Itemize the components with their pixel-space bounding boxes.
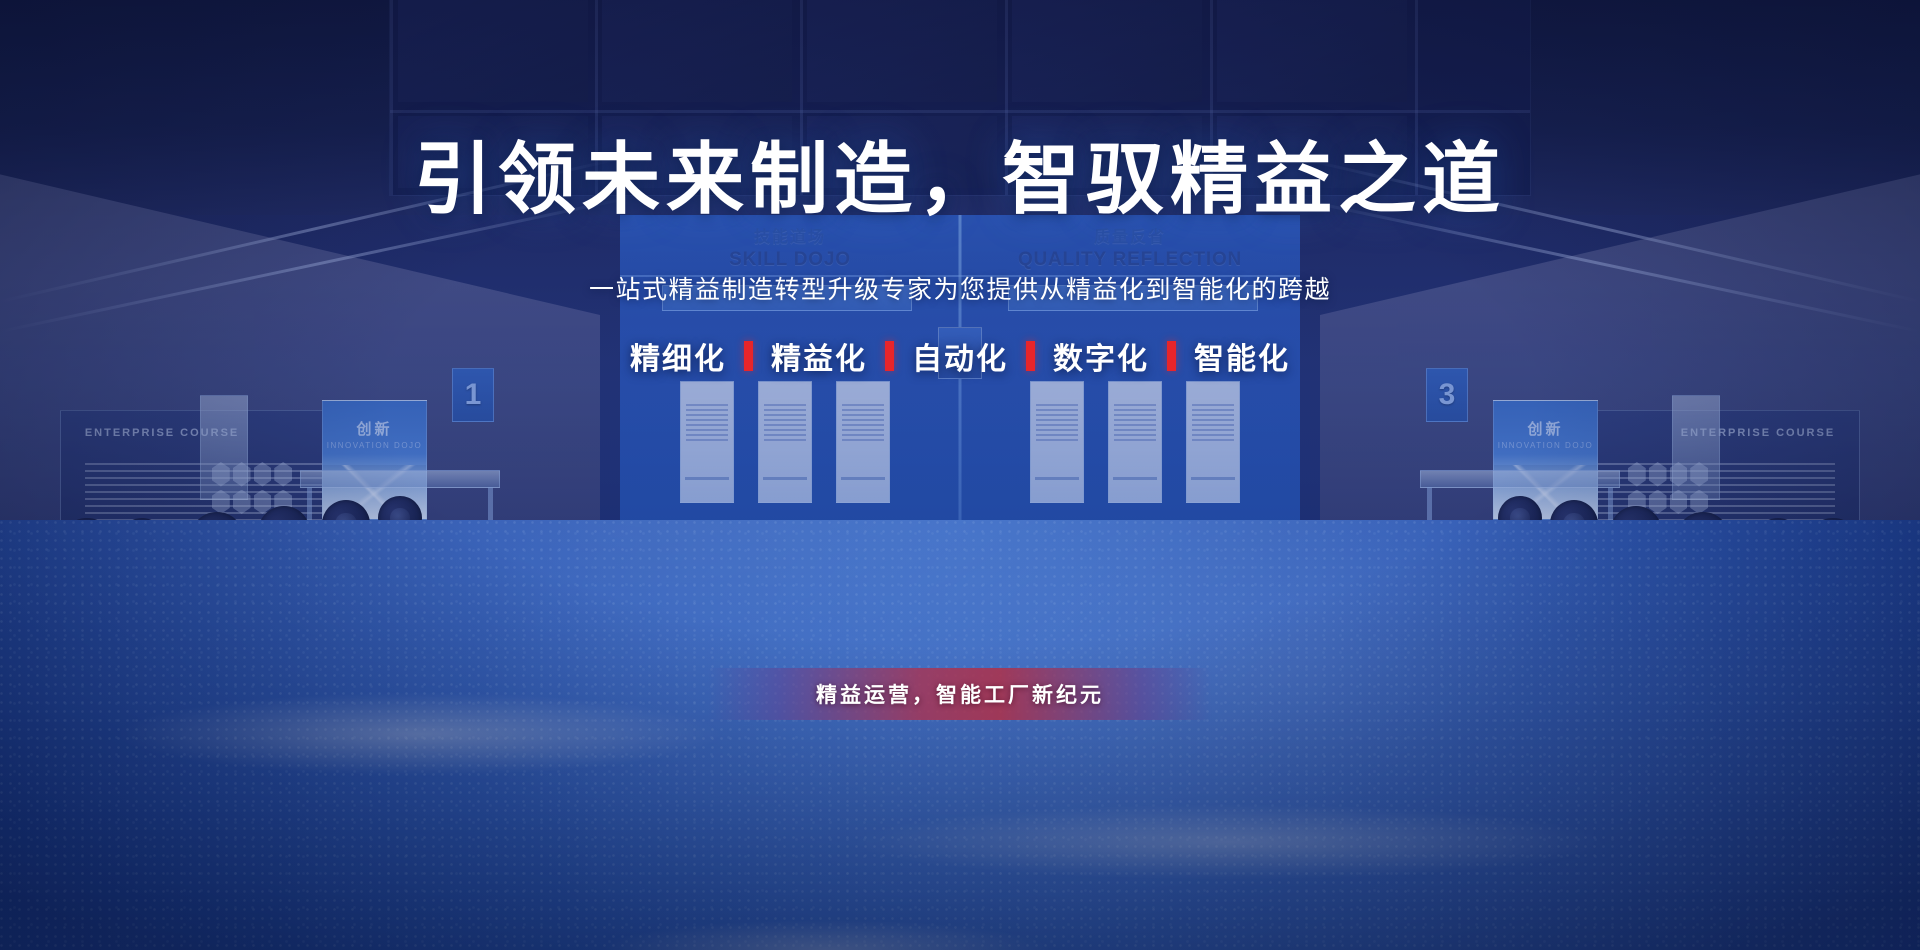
keyword-item-3: 自动化 xyxy=(912,334,1008,378)
keyword-item-4: 数字化 xyxy=(1053,334,1149,378)
hero-subheadline: 一站式精益制造转型升级专家为您提供从精益化到智能化的跨越 xyxy=(589,270,1331,306)
hero-banner: ENTERPRISE COURSE 创新 INNOVATION DOJO ENT… xyxy=(0,0,1920,950)
hero-headline: 引领未来制造，智驭精益之道 xyxy=(414,140,1506,218)
keyword-separator-icon xyxy=(1167,341,1176,371)
keyword-separator-icon xyxy=(885,341,894,371)
keyword-item-1: 精细化 xyxy=(630,334,726,378)
tagline-ribbon: 精益运营，智能工厂新纪元 xyxy=(708,668,1212,720)
keyword-list: 精细化 精益化 自动化 数字化 智能化 xyxy=(630,334,1290,378)
hero-content: 引领未来制造，智驭精益之道 一站式精益制造转型升级专家为您提供从精益化到智能化的… xyxy=(0,0,1920,950)
tagline-ribbon-text: 精益运营，智能工厂新纪元 xyxy=(816,679,1104,709)
keyword-separator-icon xyxy=(744,341,753,371)
keyword-item-5: 智能化 xyxy=(1194,334,1290,378)
keyword-separator-icon xyxy=(1026,341,1035,371)
keyword-item-2: 精益化 xyxy=(771,334,867,378)
